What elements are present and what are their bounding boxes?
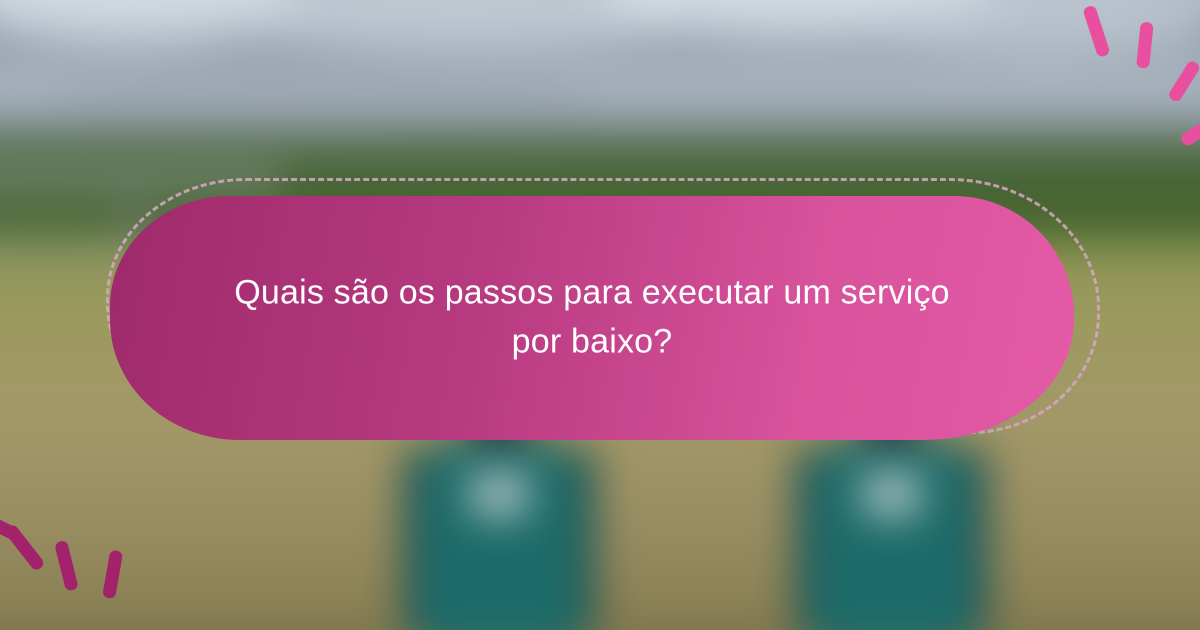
sparkle-ray — [1136, 22, 1154, 69]
share-card: Quais são os passos para executar um ser… — [0, 0, 1200, 630]
sparkle-ray — [54, 540, 79, 592]
sparkle-ray — [102, 550, 123, 600]
sparkle-ray — [3, 523, 45, 572]
person-body — [812, 439, 971, 630]
sparkle-ray — [1167, 59, 1200, 103]
sparkle-ray — [1082, 5, 1110, 58]
person-body — [420, 439, 579, 630]
person-bag — [863, 473, 920, 515]
sparkle-burst-top-right — [1040, 4, 1200, 154]
question-text: Quais são os passos para executar um ser… — [110, 269, 1074, 368]
question-callout: Quais são os passos para executar um ser… — [100, 178, 1100, 454]
cloud-shape — [49, 66, 600, 130]
person-bag — [471, 473, 528, 515]
sparkle-burst-bottom-left — [10, 478, 170, 618]
sparkle-ray — [1179, 114, 1200, 147]
callout-blob: Quais são os passos para executar um ser… — [110, 196, 1074, 440]
